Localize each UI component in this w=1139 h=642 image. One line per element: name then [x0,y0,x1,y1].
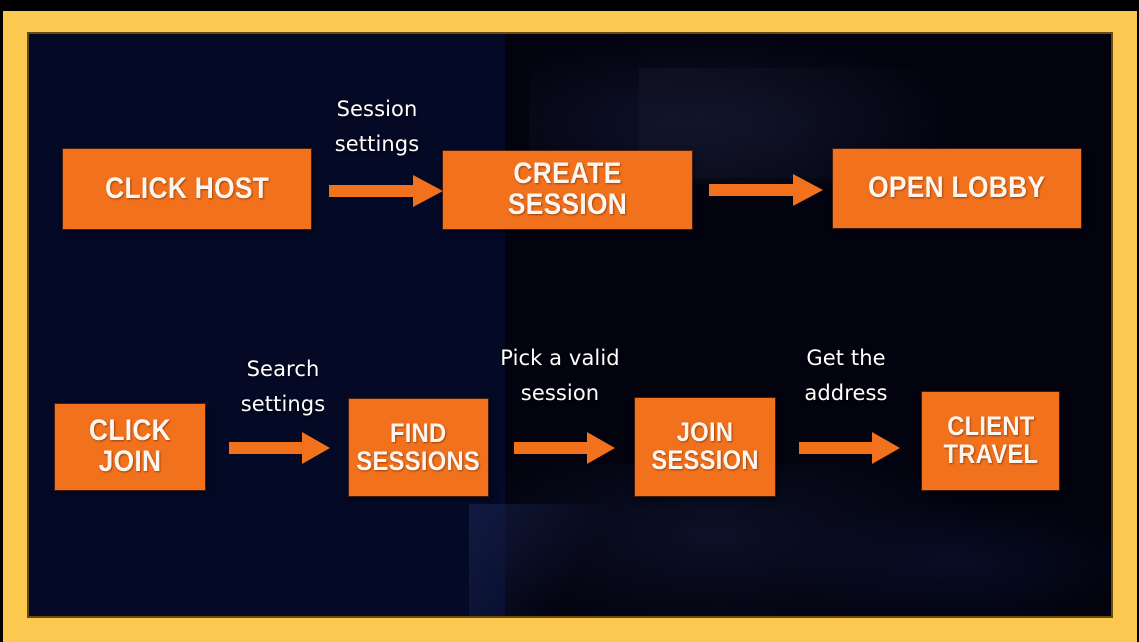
arrow-click-join-to-find-sessions [229,430,330,466]
flow-box-click-host[interactable]: CLICK HOST [63,149,311,229]
flow-box-find-sessions-label: FIND SESSIONS [357,420,481,475]
flow-box-client-travel-label: CLIENT TRAVEL [943,413,1038,468]
diagram-panel [29,34,1111,616]
annotation-session-settings: Session settings [311,92,443,162]
arrow-find-sessions-to-join-session [514,430,615,466]
flow-box-create-session-label: CREATE SESSION [458,159,677,220]
flow-box-join-session[interactable]: JOIN SESSION [635,398,775,496]
flow-box-open-lobby[interactable]: OPEN LOBBY [833,149,1081,228]
flow-box-client-travel[interactable]: CLIENT TRAVEL [922,392,1059,490]
backdrop-blur-d [789,504,1111,616]
backdrop-blur-c [469,504,619,616]
arrow-create-session-to-open-lobby [709,172,823,208]
flow-box-click-join-label: CLICK JOIN [64,416,196,477]
annotation-pick-a-valid-session: Pick a valid session [494,341,626,411]
flow-box-create-session[interactable]: CREATE SESSION [443,151,692,229]
flow-box-open-lobby-label: OPEN LOBBY [868,173,1045,204]
slide-canvas: CLICK HOST Session settings CREATE SESSI… [0,0,1139,642]
flow-box-find-sessions[interactable]: FIND SESSIONS [349,399,488,496]
annotation-get-the-address: Get the address [784,341,908,411]
arrow-click-host-to-create-session [329,173,443,209]
arrow-join-session-to-client-travel [799,430,900,466]
flow-box-click-host-label: CLICK HOST [105,174,269,205]
flow-box-click-join[interactable]: CLICK JOIN [55,404,205,490]
annotation-search-settings: Search settings [218,352,348,422]
flow-box-join-session-label: JOIN SESSION [651,419,758,474]
